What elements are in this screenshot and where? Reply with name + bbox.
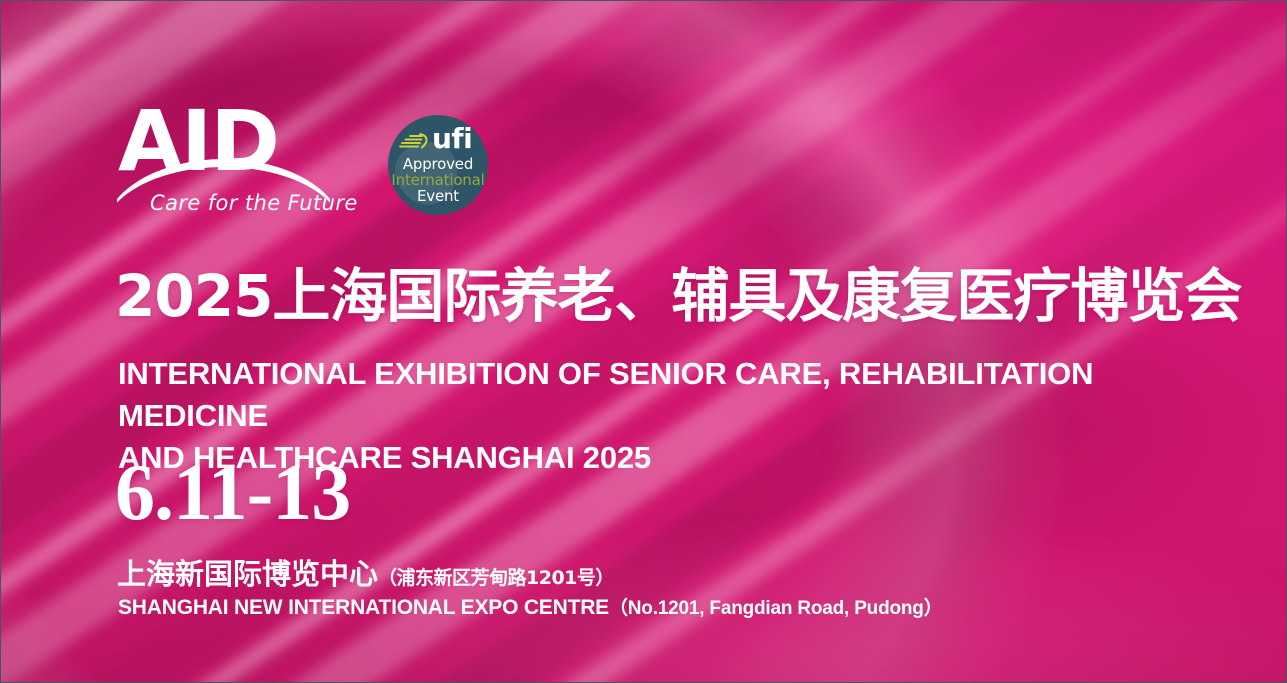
venue-english: SHANGHAI NEW INTERNATIONAL EXPO CENTRE（N… (118, 593, 943, 620)
event-banner: AID Care for the Future ufi Approved (0, 0, 1287, 683)
ufi-wordmark: ufi (432, 125, 472, 153)
aid-tagline: Care for the Future (150, 191, 358, 215)
venue-english-name: SHANGHAI NEW INTERNATIONAL EXPO CENTRE (118, 596, 609, 619)
ufi-speed-lines-icon (398, 131, 432, 151)
ufi-approved-badge: ufi Approved International Event (388, 115, 488, 215)
venue-chinese: 上海新国际博览中心（浦东新区芳甸路1201号） (117, 551, 614, 593)
ufi-line-event: Event (388, 188, 488, 204)
ufi-line-approved: Approved (388, 156, 488, 172)
ufi-line-international: International (388, 172, 488, 188)
venue-chinese-name: 上海新国际博览中心 (117, 557, 378, 591)
venue-chinese-address: （浦东新区芳甸路1201号） (378, 567, 614, 589)
event-title-english-line1: INTERNATIONAL EXHIBITION OF SENIOR CARE,… (118, 356, 1093, 433)
banner-content: AID Care for the Future ufi Approved (1, 1, 1286, 682)
logo-row: AID Care for the Future ufi Approved (118, 111, 488, 219)
event-dates: 6.11-13 (115, 453, 350, 533)
venue-english-address: （No.1201, Fangdian Road, Pudong） (609, 598, 943, 619)
event-title-chinese: 2025上海国际养老、辅具及康复医疗博览会 (115, 267, 1241, 325)
aid-logo: AID Care for the Future (118, 111, 330, 219)
